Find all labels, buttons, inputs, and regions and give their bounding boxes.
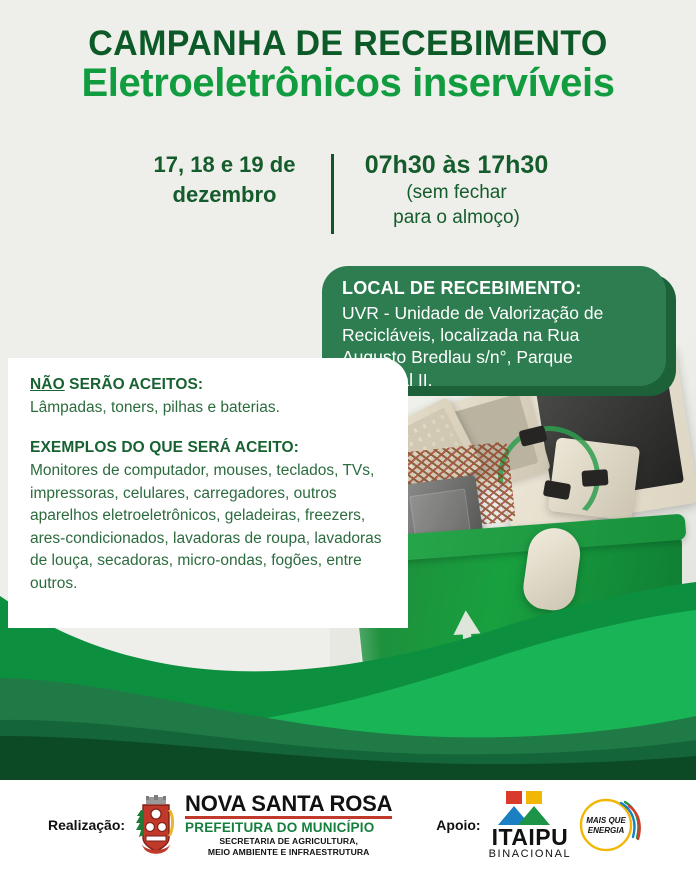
itaipu-dam-mark-icon <box>490 791 570 825</box>
campaign-hours: 07h30 às 17h30 (sem fechar para o almoço… <box>334 150 562 230</box>
apoio-label: Apoio: <box>436 817 480 833</box>
poster-footer: Realização: NOVA SANTA ROSA <box>0 780 696 870</box>
municipal-coat-of-arms-icon <box>133 794 179 856</box>
city-rule <box>185 816 392 819</box>
city-department-line-2: MEIO AMBIENTE E INFRAESTRUTURA <box>185 847 392 857</box>
rejected-heading-underlined: NÃO <box>30 376 65 393</box>
city-subtitle: PREFEITURA DO MUNICÍPIO <box>185 821 392 835</box>
rejected-heading: NÃO SERÃO ACEITOS: <box>30 376 390 394</box>
city-department: SECRETARIA DE AGRICULTURA, MEIO AMBIENTE… <box>185 836 392 857</box>
items-info-card: NÃO SERÃO ACEITOS: Lâmpadas, toners, pil… <box>8 358 408 628</box>
card-spacer <box>30 419 390 439</box>
realizacao-label: Realização: <box>48 817 125 833</box>
schedule-block: 17, 18 e 19 de dezembro 07h30 às 17h30 (… <box>0 150 696 234</box>
rejected-heading-rest: SERÃO ACEITOS: <box>65 376 203 393</box>
city-wordmark: NOVA SANTA ROSA PREFEITURA DO MUNICÍPIO … <box>185 793 392 857</box>
poster-canvas: CAMPANHA DE RECEBIMENTO Eletroeletrônico… <box>0 0 696 870</box>
itaipu-logo: ITAIPU BINACIONAL <box>489 791 572 860</box>
itaipu-name: ITAIPU <box>489 826 572 849</box>
accepted-items: Monitores de computador, mouses, teclado… <box>30 460 390 595</box>
page-title-line1: CAMPANHA DE RECEBIMENTO <box>10 26 685 61</box>
city-department-line-1: SECRETARIA DE AGRICULTURA, <box>185 836 392 846</box>
campaign-dates: 17, 18 e 19 de dezembro <box>135 150 331 209</box>
mqe-tagline-line-1: MAIS QUE <box>586 816 626 825</box>
poster-header: CAMPANHA DE RECEBIMENTO Eletroeletrônico… <box>0 26 696 105</box>
city-name: NOVA SANTA ROSA <box>185 793 392 815</box>
page-title-line2: Eletroeletrônicos inservíveis <box>0 63 696 105</box>
accepted-heading: EXEMPLOS DO QUE SERÁ ACEITO: <box>30 439 390 457</box>
connector-icon <box>581 469 608 487</box>
rejected-items: Lâmpadas, toners, pilhas e baterias. <box>30 397 390 419</box>
realizacao-block: Realização: NOVA SANTA ROSA <box>48 793 392 857</box>
apoio-block: Apoio: ITAIPU BINACIONAL <box>436 791 649 860</box>
dates-line-1: 17, 18 e 19 de <box>135 150 315 180</box>
dates-line-2: dezembro <box>135 180 315 210</box>
mqe-tagline-line-2: ENERGIA <box>588 826 625 835</box>
mais-que-energia-icon: MAIS QUE ENERGIA <box>575 793 649 857</box>
location-heading: LOCAL DE RECEBIMENTO: <box>342 278 646 299</box>
hours-note-line-2: para o almoço) <box>352 206 562 230</box>
itaipu-subtitle: BINACIONAL <box>489 849 572 860</box>
hours-note-line-1: (sem fechar <box>352 181 562 205</box>
hours-range: 07h30 às 17h30 <box>352 150 562 180</box>
